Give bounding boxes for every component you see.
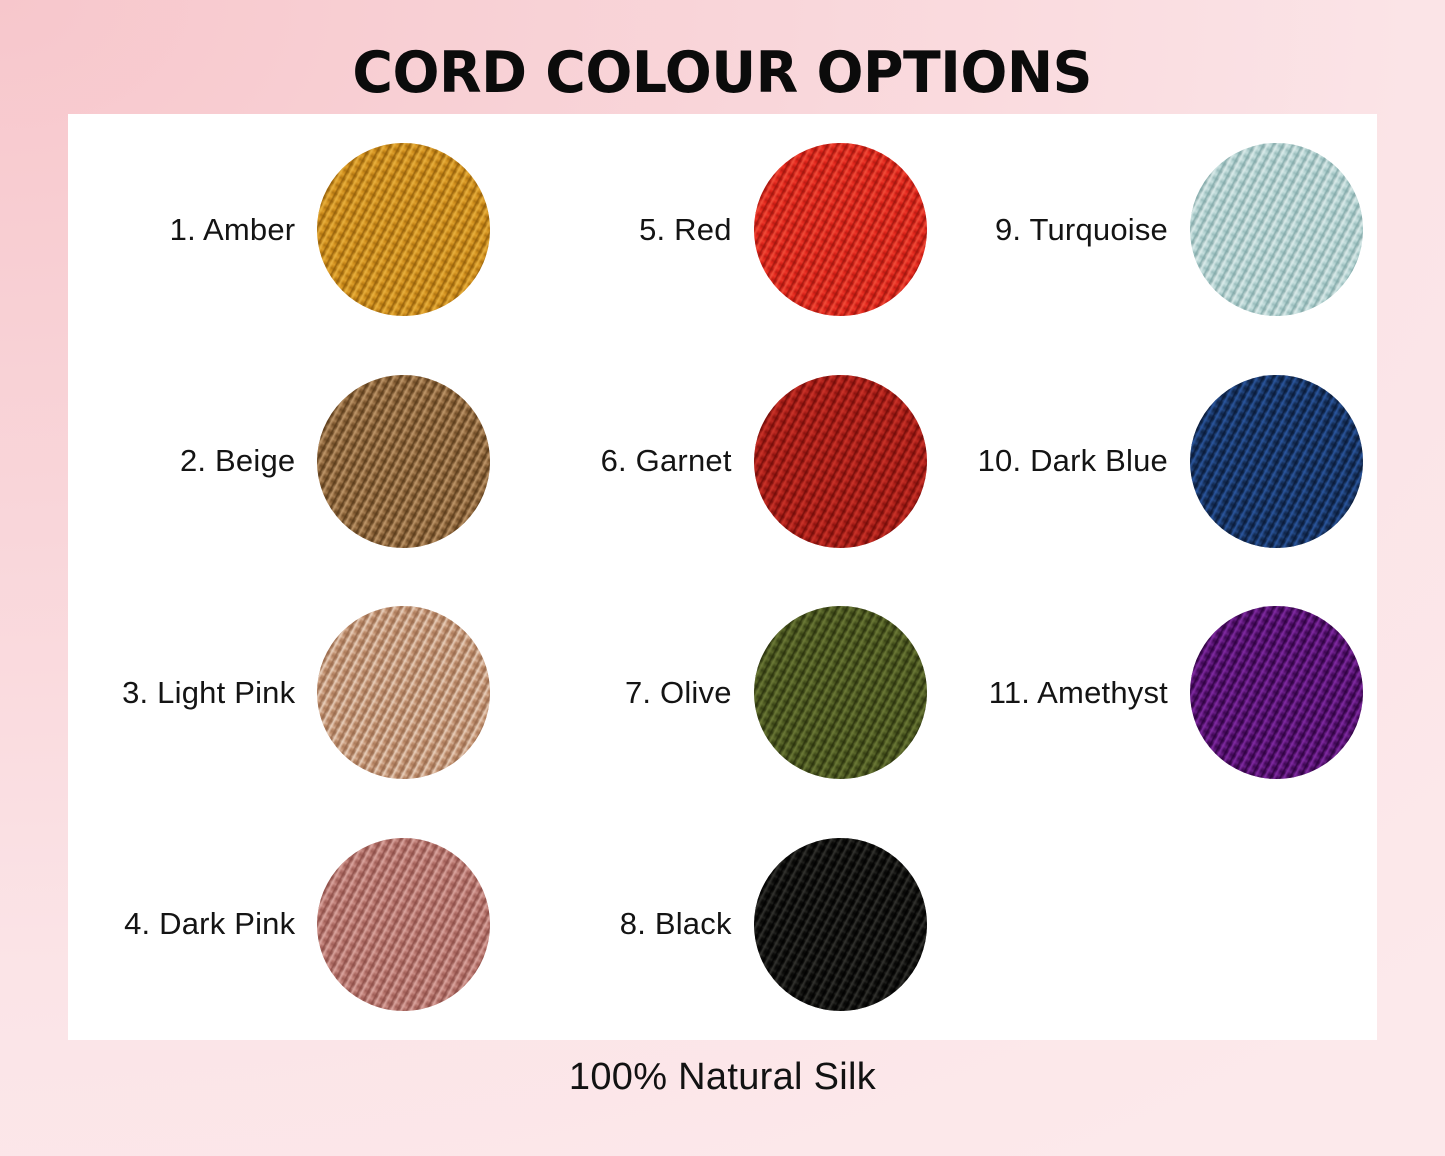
swatch-label: 10. Dark Blue [978, 443, 1168, 479]
cord-swatch-dark-pink[interactable] [317, 838, 490, 1011]
swatch-cell[interactable]: 4. Dark Pink [68, 809, 504, 1041]
swatch-label: 7. Olive [625, 675, 732, 711]
cord-swatch-amber[interactable] [317, 143, 490, 316]
cord-swatch-light-pink[interactable] [317, 606, 490, 779]
swatch-cell[interactable]: 9. Turquoise [941, 114, 1377, 346]
cord-swatch-dark-blue[interactable] [1190, 375, 1363, 548]
swatch-label: 8. Black [620, 906, 732, 942]
cord-swatch-amethyst[interactable] [1190, 606, 1363, 779]
swatch-cell[interactable]: 7. Olive [504, 577, 940, 809]
swatch-label: 9. Turquoise [995, 212, 1168, 248]
swatch-label: 1. Amber [170, 212, 296, 248]
swatch-grid: 1. Amber5. Red9. Turquoise2. Beige6. Gar… [68, 114, 1377, 1040]
cord-swatch-black[interactable] [754, 838, 927, 1011]
swatch-label: 5. Red [639, 212, 732, 248]
footer-note-text: 100% Natural Silk [569, 1056, 876, 1098]
swatch-cell[interactable]: 2. Beige [68, 346, 504, 578]
swatch-label: 4. Dark Pink [124, 906, 295, 942]
swatch-cell[interactable]: 8. Black [504, 809, 940, 1041]
footer-note: 100% Natural Silk [0, 1056, 1445, 1099]
swatch-cell[interactable]: 6. Garnet [504, 346, 940, 578]
cord-swatch-beige[interactable] [317, 375, 490, 548]
page-title-text: CORD COLOUR OPTIONS [353, 44, 1093, 104]
swatch-label: 3. Light Pink [122, 675, 295, 711]
swatch-cell[interactable]: 11. Amethyst [941, 577, 1377, 809]
cord-swatch-garnet[interactable] [754, 375, 927, 548]
swatch-cell[interactable]: 3. Light Pink [68, 577, 504, 809]
swatch-label: 11. Amethyst [989, 675, 1168, 711]
cord-swatch-olive[interactable] [754, 606, 927, 779]
swatch-cell[interactable]: 1. Amber [68, 114, 504, 346]
swatch-cell[interactable]: 10. Dark Blue [941, 346, 1377, 578]
swatch-cell[interactable]: 5. Red [504, 114, 940, 346]
cord-swatch-turquoise[interactable] [1190, 143, 1363, 316]
cord-swatch-red[interactable] [754, 143, 927, 316]
swatch-panel: 1. Amber5. Red9. Turquoise2. Beige6. Gar… [68, 114, 1377, 1040]
swatch-label: 2. Beige [180, 443, 295, 479]
page-title: CORD COLOUR OPTIONS [0, 44, 1445, 104]
swatch-label: 6. Garnet [601, 443, 732, 479]
